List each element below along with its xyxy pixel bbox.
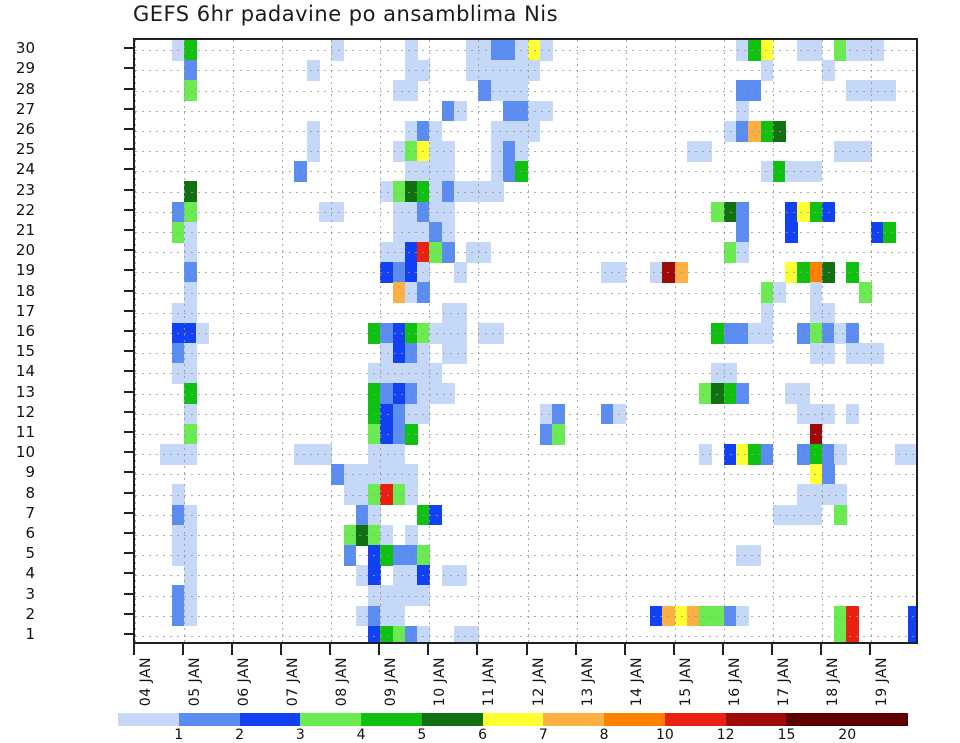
heatmap-cell (417, 565, 430, 586)
heatmap-cell (380, 585, 393, 606)
colorbar-swatch (179, 713, 240, 726)
heatmap-cell (908, 626, 918, 644)
colorbar-tick-label: 1 (174, 727, 183, 743)
heatmap-cell (810, 505, 823, 526)
heatmap-cell (368, 464, 381, 485)
heatmap-cell (834, 323, 847, 344)
heatmap-cell (172, 303, 185, 324)
heatmap-cell (160, 444, 173, 465)
heatmap-cell (478, 242, 491, 263)
heatmap-cell (846, 40, 859, 61)
heatmap-cell (344, 464, 357, 485)
heatmap-cell (442, 161, 455, 182)
heatmap-cell (810, 262, 823, 283)
heatmap-cell (810, 40, 823, 61)
heatmap-cell (454, 101, 467, 122)
heatmap-cell (810, 323, 823, 344)
heatmap-cell (797, 202, 810, 223)
heatmap-cell (184, 525, 197, 546)
heatmap-cell (393, 242, 406, 263)
heatmap-cell (417, 585, 430, 606)
heatmap-cell (405, 383, 418, 404)
y-axis-tick-mark (124, 148, 135, 150)
heatmap-cell (368, 525, 381, 546)
heatmap-cell (871, 343, 884, 364)
heatmap-cell (380, 242, 393, 263)
y-axis-tick-mark (124, 269, 135, 271)
heatmap-cell (773, 282, 786, 303)
heatmap-cell (172, 222, 185, 243)
y-axis-tick-mark (124, 189, 135, 191)
heatmap-cell (172, 525, 185, 546)
y-axis-tick-label: 27 (0, 100, 35, 118)
chart-root: GEFS 6hr padavine po ansamblima Nis 3029… (0, 0, 960, 742)
heatmap-cell (540, 404, 553, 425)
heatmap-cell (908, 606, 918, 627)
heatmap-cell (417, 121, 430, 142)
heatmap-cell (797, 262, 810, 283)
heatmap-cell (503, 121, 516, 142)
heatmap-cell (393, 565, 406, 586)
x-axis-tick-label: 18 JAN (825, 657, 841, 706)
heatmap-cell (380, 383, 393, 404)
y-axis-tick-label: 14 (0, 362, 35, 380)
heatmap-cell (442, 101, 455, 122)
y-axis-tick-label: 12 (0, 403, 35, 421)
heatmap-cell (417, 181, 430, 202)
heatmap-cell (601, 262, 614, 283)
heatmap-cell (761, 121, 774, 142)
heatmap-cell (393, 222, 406, 243)
heatmap-cell (822, 404, 835, 425)
heatmap-cell (797, 40, 810, 61)
heatmap-cell (331, 40, 344, 61)
heatmap-cell (417, 202, 430, 223)
heatmap-cell (417, 323, 430, 344)
heatmap-cell (711, 606, 724, 627)
x-axis-tick-label: 05 JAN (187, 657, 203, 706)
heatmap-cell (810, 404, 823, 425)
heatmap-cell (724, 202, 737, 223)
heatmap-cell (344, 545, 357, 566)
heatmap-cell (196, 323, 209, 344)
x-axis-tick-label: 08 JAN (334, 657, 350, 706)
heatmap-cell (380, 606, 393, 627)
heatmap-cell (724, 606, 737, 627)
y-axis-tick-label: 9 (0, 463, 35, 481)
heatmap-cell (454, 323, 467, 344)
y-axis-tick-mark (124, 88, 135, 90)
heatmap-cell (822, 444, 835, 465)
heatmap-cell (405, 565, 418, 586)
heatmap-cell (405, 40, 418, 61)
x-axis-tick-mark (476, 644, 478, 655)
colorbar-tick-label: 5 (417, 727, 426, 743)
heatmap-cell (895, 444, 908, 465)
heatmap-cell (748, 80, 761, 101)
heatmap-cell (184, 323, 197, 344)
heatmap-cell (368, 363, 381, 384)
heatmap-cell (380, 343, 393, 364)
heatmap-cell (368, 565, 381, 586)
heatmap-cell (552, 424, 565, 445)
heatmap-cell (172, 343, 185, 364)
x-axis-tick-mark (771, 644, 773, 655)
heatmap-cell (724, 363, 737, 384)
heatmap-cell (748, 121, 761, 142)
y-axis-tick-mark (124, 330, 135, 332)
heatmap-cell (834, 40, 847, 61)
heatmap-cell (393, 444, 406, 465)
heatmap-cell (442, 202, 455, 223)
heatmap-cell (184, 242, 197, 263)
heatmap-cell (748, 444, 761, 465)
heatmap-cell (356, 525, 369, 546)
y-axis-tick-mark (124, 492, 135, 494)
heatmap-cell (393, 181, 406, 202)
y-axis-tick-mark (124, 411, 135, 413)
colorbar-tick-label: 15 (778, 727, 796, 743)
heatmap-cell (393, 80, 406, 101)
x-axis-tick-label: 06 JAN (236, 657, 252, 706)
heatmap-cell (380, 626, 393, 644)
x-axis-tick-mark (133, 644, 135, 655)
heatmap-cell (429, 181, 442, 202)
y-axis-tick-label: 1 (0, 625, 35, 643)
heatmap-cell (393, 202, 406, 223)
heatmap-cell (785, 505, 798, 526)
heatmap-cell (834, 626, 847, 644)
heatmap-cell (417, 505, 430, 526)
heatmap-cell (393, 606, 406, 627)
heatmap-cell (429, 323, 442, 344)
heatmap-cell (368, 545, 381, 566)
heatmap-cell (184, 202, 197, 223)
y-axis-tick-mark (124, 593, 135, 595)
heatmap-cell (478, 80, 491, 101)
heatmap-cell (454, 181, 467, 202)
y-axis-tick-label: 16 (0, 322, 35, 340)
heatmap-cell (368, 404, 381, 425)
heatmap-cell (429, 161, 442, 182)
heatmap-cell (405, 404, 418, 425)
heatmap-cell (442, 565, 455, 586)
heatmap-cell (650, 606, 663, 627)
heatmap-cell (761, 40, 774, 61)
heatmap-cell (503, 80, 516, 101)
heatmap-cell (344, 525, 357, 546)
heatmap-cell (846, 626, 859, 644)
heatmap-cell (368, 444, 381, 465)
x-axis-tick-label: 10 JAN (432, 657, 448, 706)
heatmap-cell (380, 545, 393, 566)
y-axis-tick-label: 23 (0, 181, 35, 199)
heatmap-cell (405, 323, 418, 344)
heatmap-cell (675, 606, 688, 627)
heatmap-cell (859, 80, 872, 101)
heatmap-cell (540, 424, 553, 445)
heatmap-cell (466, 60, 479, 81)
heatmap-cell (405, 424, 418, 445)
heatmap-cell (442, 222, 455, 243)
heatmap-cell (478, 181, 491, 202)
heatmap-cell (454, 343, 467, 364)
heatmap-cell (172, 505, 185, 526)
x-axis-tick-mark (378, 644, 380, 655)
heatmap-cell (172, 444, 185, 465)
heatmap-cell (417, 383, 430, 404)
heatmap-cell (380, 424, 393, 445)
y-axis-tick-label: 24 (0, 160, 35, 178)
heatmap-cell (380, 323, 393, 344)
x-axis-tick-mark (182, 644, 184, 655)
colorbar-swatch (483, 713, 544, 726)
x-axis-tick-mark (526, 644, 528, 655)
heatmap-cell (736, 383, 749, 404)
heatmap-cell (405, 242, 418, 263)
heatmap-cell (344, 484, 357, 505)
heatmap-cell (405, 121, 418, 142)
y-axis-tick-mark (124, 249, 135, 251)
heatmap-cell (442, 181, 455, 202)
heatmap-cell (834, 444, 847, 465)
heatmap-cell (393, 262, 406, 283)
heatmap-cell (613, 404, 626, 425)
y-axis-tick-label: 26 (0, 120, 35, 138)
heatmap-cell (184, 181, 197, 202)
heatmap-cell (478, 40, 491, 61)
heatmap-cell (172, 585, 185, 606)
x-axis-tick-mark (231, 644, 233, 655)
heatmap-cell (405, 60, 418, 81)
heatmap-cell (368, 606, 381, 627)
heatmap-cell (184, 80, 197, 101)
heatmap-cell (810, 282, 823, 303)
x-axis-tick-mark (575, 644, 577, 655)
heatmap-cell (515, 161, 528, 182)
y-axis-tick-label: 25 (0, 140, 35, 158)
heatmap-cell (184, 505, 197, 526)
heatmap-cell (368, 424, 381, 445)
heatmap-cell (454, 626, 467, 644)
x-axis-tick-label: 07 JAN (285, 657, 301, 706)
heatmap-cell (846, 262, 859, 283)
x-axis-tick-label: 16 JAN (727, 657, 743, 706)
y-axis-tick-mark (124, 67, 135, 69)
heatmap-cell (184, 262, 197, 283)
y-axis-tick-mark (124, 613, 135, 615)
heatmap-cell (380, 444, 393, 465)
heatmap-cell (711, 383, 724, 404)
heatmap-cell (834, 505, 847, 526)
heatmap-cell (393, 545, 406, 566)
heatmap-cell (429, 363, 442, 384)
heatmap-cell (184, 303, 197, 324)
heatmap-cell (356, 464, 369, 485)
colorbar-swatch (300, 713, 361, 726)
y-axis-tick-mark (124, 512, 135, 514)
heatmap-cell (429, 141, 442, 162)
heatmap-cell (307, 141, 320, 162)
heatmap-cell (785, 383, 798, 404)
heatmap-cell (368, 323, 381, 344)
heatmap-cell (797, 444, 810, 465)
heatmap-cell (785, 222, 798, 243)
heatmap-cell (307, 121, 320, 142)
heatmap-cell (761, 303, 774, 324)
heatmap-cell (184, 282, 197, 303)
heatmap-cell (429, 383, 442, 404)
colorbar (118, 713, 908, 726)
y-axis-tick-mark (124, 290, 135, 292)
y-axis-tick-label: 19 (0, 261, 35, 279)
heatmap-cell (405, 141, 418, 162)
heatmap-cell (184, 40, 197, 61)
x-axis-tick-label: 12 JAN (531, 657, 547, 706)
colorbar-swatch (240, 713, 301, 726)
heatmap-cell (172, 40, 185, 61)
heatmap-cell (491, 323, 504, 344)
heatmap-cell (503, 101, 516, 122)
colorbar-tick-label: 3 (296, 727, 305, 743)
heatmap-cell (773, 121, 786, 142)
heatmap-cell (736, 80, 749, 101)
heatmap-cell (491, 40, 504, 61)
heatmap-cell (748, 323, 761, 344)
heatmap-cell (773, 505, 786, 526)
heatmap-cell (773, 161, 786, 182)
heatmap-cell (184, 565, 197, 586)
heatmap-cell (184, 363, 197, 384)
heatmap-cell (675, 262, 688, 283)
y-axis-tick-label: 3 (0, 585, 35, 603)
heatmap-cell (184, 545, 197, 566)
heatmap-cell (405, 464, 418, 485)
heatmap-cell (294, 161, 307, 182)
heatmap-cell (466, 626, 479, 644)
heatmap-cell (711, 323, 724, 344)
heatmap-cell (417, 404, 430, 425)
heatmap-cell (405, 525, 418, 546)
heatmap-cell (748, 545, 761, 566)
heatmap-cell (601, 404, 614, 425)
heatmap-cell (711, 202, 724, 223)
y-axis-tick-label: 13 (0, 383, 35, 401)
heatmap-cell (810, 202, 823, 223)
x-axis-tick-label: 11 JAN (481, 657, 497, 706)
heatmap-cell (380, 464, 393, 485)
heatmap-cell (724, 383, 737, 404)
heatmap-cell (724, 242, 737, 263)
heatmap-cell (785, 161, 798, 182)
heatmap-cell (454, 565, 467, 586)
y-axis-tick-label: 5 (0, 544, 35, 562)
heatmap-cell (491, 161, 504, 182)
heatmap-cell (528, 121, 541, 142)
heatmap-cell (797, 404, 810, 425)
heatmap-cell (294, 444, 307, 465)
heatmap-cell (393, 141, 406, 162)
y-axis-tick-label: 28 (0, 80, 35, 98)
heatmap-cell (184, 60, 197, 81)
heatmap-cell (184, 222, 197, 243)
heatmap-cell (491, 121, 504, 142)
heatmap-cell (405, 181, 418, 202)
y-axis-tick-label: 8 (0, 484, 35, 502)
colorbar-tick-label: 6 (478, 727, 487, 743)
x-axis-tick-label: 04 JAN (138, 657, 154, 706)
x-axis-tick-label: 15 JAN (678, 657, 694, 706)
heatmap-cell (417, 141, 430, 162)
heatmap-cell (552, 404, 565, 425)
heatmap-cell (393, 585, 406, 606)
heatmap-cell (822, 262, 835, 283)
y-axis-tick-label: 6 (0, 524, 35, 542)
heatmap-cell (797, 505, 810, 526)
heatmap-cell (662, 606, 675, 627)
heatmap-cell (859, 343, 872, 364)
x-axis-tick-mark (624, 644, 626, 655)
heatmap-cell (405, 484, 418, 505)
colorbar-swatch (361, 713, 422, 726)
x-axis-tick-label: 14 JAN (629, 657, 645, 706)
heatmap-cell (797, 161, 810, 182)
heatmap-cell (761, 161, 774, 182)
heatmap-cell (528, 40, 541, 61)
heatmap-cell (442, 323, 455, 344)
heatmap-cell (736, 222, 749, 243)
heatmap-cell (699, 444, 712, 465)
heatmap-cell (417, 363, 430, 384)
heatmap-cell (331, 464, 344, 485)
heatmap-cell (442, 242, 455, 263)
heatmap-cell (393, 464, 406, 485)
y-axis-tick-label: 18 (0, 282, 35, 300)
heatmap-cell (761, 323, 774, 344)
y-axis-tick-mark (124, 431, 135, 433)
heatmap-cell (405, 202, 418, 223)
heatmap-cell (466, 181, 479, 202)
heatmap-cell (515, 80, 528, 101)
heatmap-cell (184, 424, 197, 445)
heatmap-cell (405, 626, 418, 644)
y-axis-tick-mark (124, 532, 135, 534)
heatmap-cell (184, 444, 197, 465)
colorbar-swatch (604, 713, 665, 726)
heatmap-cell (417, 222, 430, 243)
heatmap-cell (380, 525, 393, 546)
x-axis-tick-label: 09 JAN (383, 657, 399, 706)
y-axis-tick-label: 29 (0, 59, 35, 77)
heatmap-cell (650, 262, 663, 283)
heatmap-cell (736, 444, 749, 465)
heatmap-cell (871, 222, 884, 243)
y-axis-tick-mark (124, 370, 135, 372)
heatmap-cell (478, 60, 491, 81)
heatmap-cell (491, 181, 504, 202)
heatmap-cell (822, 60, 835, 81)
heatmap-cell (859, 40, 872, 61)
x-axis-tick-label: 19 JAN (874, 657, 890, 706)
heatmap-cell (417, 60, 430, 81)
heatmap-cell (172, 484, 185, 505)
y-axis-tick-label: 21 (0, 221, 35, 239)
chart-title: GEFS 6hr padavine po ansamblima Nis (133, 2, 558, 26)
heatmap-cell (356, 484, 369, 505)
x-axis-tick-label: 17 JAN (776, 657, 792, 706)
heatmap-cell (491, 60, 504, 81)
heatmap-cell (810, 424, 823, 445)
